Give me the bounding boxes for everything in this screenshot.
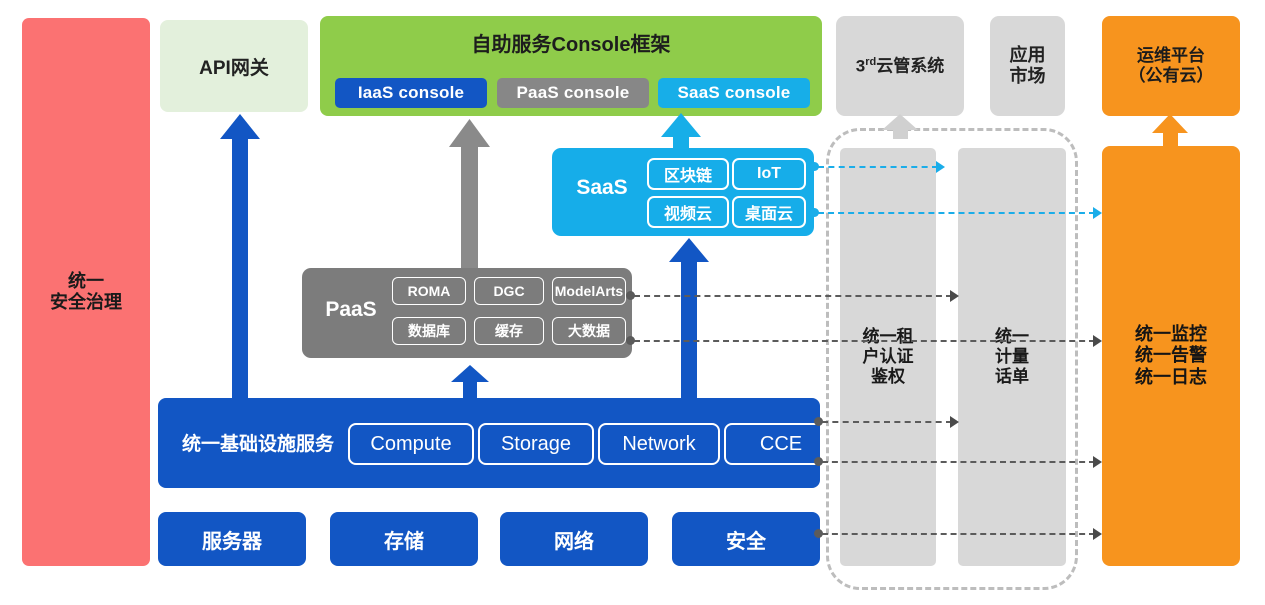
api-gateway-box[interactable]: API网关 <box>160 20 308 112</box>
infra-chip-network[interactable]: Network <box>598 423 720 465</box>
connector-resources-to-ops <box>822 533 1095 535</box>
ops-platform-top-box[interactable]: 运维平台 （公有云） <box>1102 16 1240 116</box>
saas-chip-iot[interactable]: IoT <box>732 158 806 190</box>
app-market-label: 应用 市场 <box>1010 45 1046 87</box>
unified-tenant-auth-column[interactable]: 统一租 户认证 鉴权 <box>840 148 936 566</box>
iaas-console-chip[interactable]: IaaS console <box>335 78 487 108</box>
app-market-box[interactable]: 应用 市场 <box>990 16 1065 116</box>
connector-infra-to-ops <box>822 461 1095 463</box>
ops-platform-top-label: 运维平台 （公有云） <box>1129 46 1214 86</box>
saas-chip-video-cloud[interactable]: 视频云 <box>647 196 729 228</box>
paas-console-chip[interactable]: PaaS console <box>497 78 649 108</box>
ops-col-line-3: 统一日志 <box>1135 367 1207 387</box>
auth-line-1: 统一租 <box>863 327 914 346</box>
connector-paas-to-billing <box>634 295 952 297</box>
third-party-label: 3rd云管系统 <box>856 56 944 77</box>
unified-tenant-auth-label: 统一租 户认证 鉴权 <box>863 327 914 387</box>
auth-line-2: 户认证 <box>863 347 914 366</box>
ops-top-line-1: 运维平台 <box>1137 46 1205 65</box>
connector-arrowhead-infra-billing <box>950 416 959 428</box>
ops-platform-column-label: 统一监控 统一告警 统一日志 <box>1135 324 1207 388</box>
ops-col-line-2: 统一告警 <box>1135 345 1207 365</box>
security-line-1: 统一 <box>68 271 104 291</box>
saas-block[interactable]: SaaS 区块链 IoT 视频云 桌面云 <box>552 148 814 236</box>
connector-saas-to-auth <box>818 166 938 168</box>
ops-platform-column[interactable]: 统一监控 统一告警 统一日志 <box>1102 146 1240 566</box>
self-service-console-frame[interactable]: 自助服务Console框架 IaaS console PaaS console … <box>320 16 822 116</box>
saas-console-chip[interactable]: SaaS console <box>658 78 810 108</box>
ops-col-line-1: 统一监控 <box>1135 324 1207 344</box>
connector-saas-to-ops <box>818 212 1095 214</box>
arrow-infra-to-paas <box>451 365 489 399</box>
connector-arrowhead-paas-ops <box>1093 335 1102 347</box>
saas-chip-blockchain[interactable]: 区块链 <box>647 158 729 190</box>
paas-chip-modelarts[interactable]: ModelArts <box>552 277 626 305</box>
ops-top-line-2: （公有云） <box>1129 66 1214 85</box>
architecture-diagram: 统一 安全治理 API网关 自助服务Console框架 IaaS console… <box>0 0 1265 605</box>
infrastructure-label: 统一基础设施服务 <box>172 429 344 456</box>
console-frame-title: 自助服务Console框架 <box>320 28 822 57</box>
connector-arrowhead-infra-ops <box>1093 456 1102 468</box>
connector-paas-to-ops <box>634 340 1095 342</box>
security-line-2: 安全治理 <box>50 292 122 312</box>
paas-chip-database[interactable]: 数据库 <box>392 317 466 345</box>
infra-chip-storage[interactable]: Storage <box>478 423 594 465</box>
arrow-ops-column-to-ops-top <box>1152 114 1188 146</box>
connector-arrowhead-resources-ops <box>1093 528 1102 540</box>
connector-infra-to-billing <box>822 421 952 423</box>
saas-label: SaaS <box>564 176 640 200</box>
paas-chip-cache[interactable]: 缓存 <box>474 317 544 345</box>
arrow-saas-to-console <box>661 113 701 149</box>
unified-metering-billing-label: 统一 计量 话单 <box>995 327 1029 387</box>
saas-chip-desktop-cloud[interactable]: 桌面云 <box>732 196 806 228</box>
resource-box-server[interactable]: 服务器 <box>158 512 306 566</box>
paas-block[interactable]: PaaS ROMA DGC ModelArts 数据库 缓存 大数据 <box>302 268 632 358</box>
bill-line-3: 话单 <box>995 367 1029 386</box>
arrow-paas-to-console <box>449 119 490 268</box>
bill-line-1: 统一 <box>995 327 1029 346</box>
third-party-rest: 云管系统 <box>876 56 944 75</box>
infra-chip-compute[interactable]: Compute <box>348 423 474 465</box>
arrow-infra-to-api-gateway <box>220 114 260 398</box>
connector-arrowhead-saas-auth <box>936 161 945 173</box>
unified-metering-billing-column[interactable]: 统一 计量 话单 <box>958 148 1066 566</box>
resource-box-storage[interactable]: 存储 <box>330 512 478 566</box>
app-market-line-1: 应用 <box>1010 45 1046 65</box>
security-governance-label: 统一 安全治理 <box>50 271 122 313</box>
security-governance-column[interactable]: 统一 安全治理 <box>22 18 150 566</box>
auth-line-3: 鉴权 <box>871 367 905 386</box>
third-party-prefix: 3 <box>856 56 865 75</box>
infrastructure-bar[interactable]: 统一基础设施服务 Compute Storage Network CCE <box>158 398 820 488</box>
connector-arrowhead-paas-billing <box>950 290 959 302</box>
third-party-superscript: rd <box>865 56 876 68</box>
connector-arrowhead-saas-ops <box>1093 207 1102 219</box>
paas-chip-bigdata[interactable]: 大数据 <box>552 317 626 345</box>
app-market-line-2: 市场 <box>1010 66 1046 86</box>
arrow-infra-to-saas <box>669 238 709 398</box>
paas-label: PaaS <box>312 298 390 322</box>
api-gateway-label: API网关 <box>199 53 269 80</box>
resource-box-network[interactable]: 网络 <box>500 512 648 566</box>
paas-chip-dgc[interactable]: DGC <box>474 277 544 305</box>
third-party-cloud-mgmt-box[interactable]: 3rd云管系统 <box>836 16 964 116</box>
paas-chip-roma[interactable]: ROMA <box>392 277 466 305</box>
resource-box-security[interactable]: 安全 <box>672 512 820 566</box>
bill-line-2: 计量 <box>995 347 1029 366</box>
